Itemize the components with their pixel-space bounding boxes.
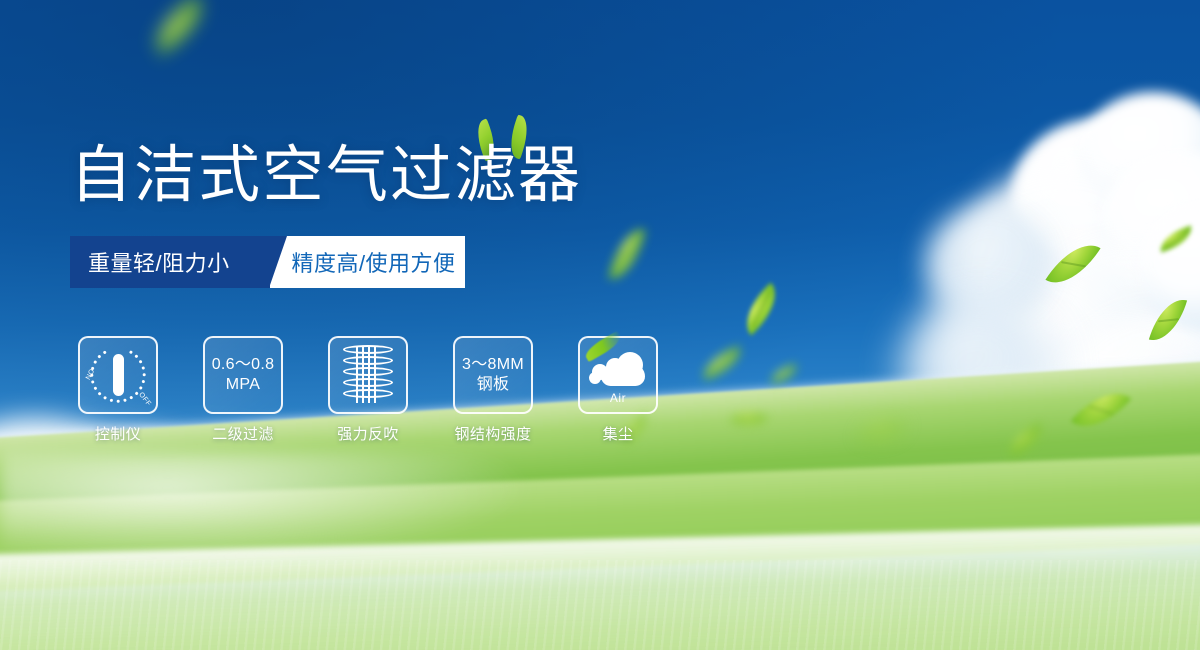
feature-icon-box: 0.6～0.8 MPA (203, 336, 283, 414)
reverse-blow-icon (343, 345, 393, 405)
feature-list: NO OFF 控制仪 0.6～0.8 MPA 二级过滤 (78, 336, 658, 444)
feature-item-pressure[interactable]: 0.6～0.8 MPA 二级过滤 (203, 336, 283, 444)
feature-label: 强力反吹 (328, 423, 408, 444)
steel-plate-text-icon: 3～8MM 钢板 (462, 355, 524, 395)
field-highlight-glow (0, 452, 1200, 572)
page-title: 自洁式空气过滤器 (70, 143, 582, 209)
feature-label: 控制仪 (78, 423, 158, 444)
hero-banner: 自洁式空气过滤器 重量轻/阻力小 精度高/使用方便 (0, 0, 1200, 650)
pressure-value-line2: MPA (212, 375, 275, 395)
subtitle-segment-right: 精度高/使用方便 (270, 236, 465, 288)
subtitle-bar: 重量轻/阻力小 精度高/使用方便 (70, 236, 465, 288)
air-cloud-icon: Air (587, 346, 649, 404)
feature-icon-box: 3～8MM 钢板 (453, 336, 533, 414)
feature-icon-box (328, 336, 408, 414)
feature-item-control[interactable]: NO OFF 控制仪 (78, 336, 158, 444)
pressure-text-icon: 0.6～0.8 MPA (212, 355, 275, 395)
dial-pointer (113, 354, 124, 396)
dial-label-off: OFF (137, 391, 152, 407)
grass-texture-overlay (0, 560, 1200, 650)
subtitle-segment-left: 重量轻/阻力小 (70, 236, 270, 288)
pressure-value-line1: 0.6～0.8 (212, 355, 275, 375)
control-dial-icon: NO OFF (86, 344, 150, 406)
dial-label-no: NO (85, 368, 96, 381)
steel-value-line2: 钢板 (462, 375, 524, 395)
feature-label: 二级过滤 (203, 423, 283, 444)
steel-value-line1: 3～8MM (462, 355, 524, 375)
feature-item-steel[interactable]: 3～8MM 钢板 钢结构强度 (453, 336, 533, 444)
feature-item-dust[interactable]: Air 集尘 (578, 336, 658, 444)
feature-label: 集尘 (578, 423, 658, 444)
air-label: Air (587, 391, 649, 405)
feature-item-blowback[interactable]: 强力反吹 (328, 336, 408, 444)
feature-icon-box: Air (578, 336, 658, 414)
feature-icon-box: NO OFF (78, 336, 158, 414)
feature-label: 钢结构强度 (453, 423, 533, 444)
